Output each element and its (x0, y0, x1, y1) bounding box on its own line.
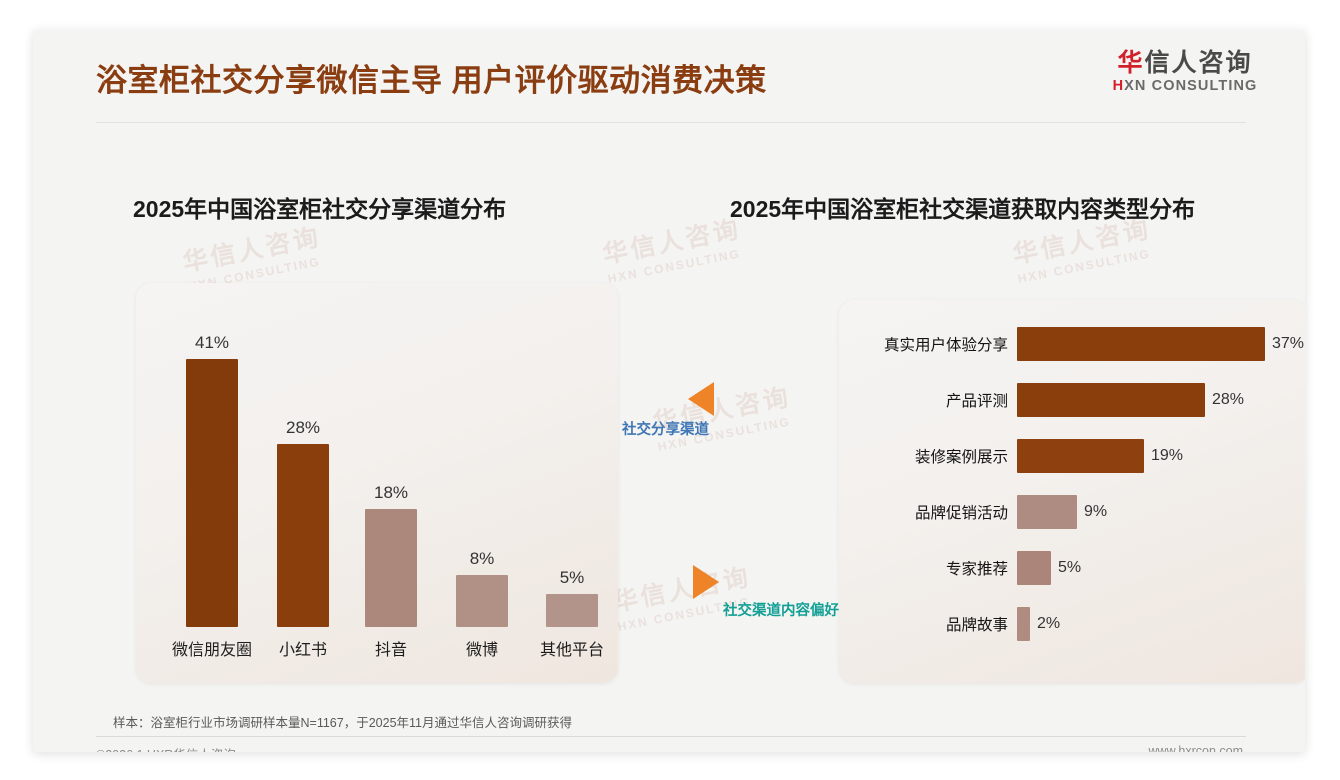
bar-category-label: 品牌故事 (839, 613, 1017, 635)
logo-chinese-name: 华信人咨询 (1095, 50, 1275, 76)
slide-header: 浴室柜社交分享微信主导 用户评价驱动消费决策 华信人咨询 HXN CONSULT… (33, 30, 1305, 124)
footer-divider (96, 736, 1246, 737)
horizontal-bar-row: 专家推荐5% (839, 551, 1305, 585)
bar-value-label: 28% (286, 418, 320, 438)
bar-rect (1017, 551, 1051, 585)
bar-rect (456, 575, 508, 627)
header-divider (96, 122, 1246, 123)
bar-value-label: 5% (560, 568, 585, 588)
bar-category-label: 真实用户体验分享 (839, 333, 1017, 355)
logo-english-first-char: H (1113, 78, 1125, 94)
horizontal-bar-row: 产品评测28% (839, 383, 1305, 417)
triangle-left-icon (688, 382, 714, 416)
logo-chinese-rest: 信人咨询 (1145, 49, 1253, 77)
watermark: 华信人咨询 HXN CONSULTING (599, 209, 746, 286)
bar-value-label: 8% (470, 549, 495, 569)
horizontal-bar-row: 真实用户体验分享37% (839, 327, 1305, 361)
vertical-bar-group: 18%抖音 (365, 509, 417, 627)
bar-category-label: 微博 (466, 636, 498, 660)
watermark-line1: 华信人咨询 (179, 217, 323, 279)
vertical-bar-group: 5%其他平台 (546, 594, 598, 627)
horizontal-bar-row: 装修案例展示19% (839, 439, 1305, 473)
vertical-bar-group: 28%小红书 (277, 444, 329, 627)
bar-value-label: 41% (195, 333, 229, 353)
horizontal-bar-chart: 真实用户体验分享37%产品评测28%装修案例展示19%品牌促销活动9%专家推荐5… (839, 300, 1305, 683)
bar-category-label: 装修案例展示 (839, 445, 1017, 467)
logo-chinese-first-char: 华 (1117, 49, 1144, 77)
horizontal-bar-row: 品牌故事2% (839, 607, 1305, 641)
vertical-bar-chart: 41%微信朋友圈28%小红书18%抖音8%微博5%其他平台 (136, 283, 618, 683)
bar-rect (277, 444, 329, 627)
watermark-line2: HXN CONSULTING (1016, 245, 1156, 285)
bar-rect (1017, 327, 1265, 361)
horizontal-bar-row: 品牌促销活动9% (839, 495, 1305, 529)
content-pref-label: 社交渠道内容偏好 (723, 599, 839, 620)
vertical-bar-group: 41%微信朋友圈 (186, 359, 238, 627)
bar-rect (1017, 607, 1030, 641)
watermark-line1: 华信人咨询 (599, 209, 743, 271)
bar-value-label: 37% (1272, 335, 1304, 353)
bar-category-label: 微信朋友圈 (172, 636, 252, 660)
bar-rect (546, 594, 598, 627)
watermark-line2: HXN CONSULTING (606, 245, 746, 285)
left-chart-panel: 41%微信朋友圈28%小红书18%抖音8%微博5%其他平台 (136, 283, 618, 683)
bar-value-label: 9% (1084, 503, 1107, 521)
sample-footnote: 样本：浴室柜行业市场调研样本量N=1167，于2025年11月通过华信人咨询调研… (113, 712, 572, 731)
bar-value-label: 5% (1058, 559, 1081, 577)
logo-english-name: HXN CONSULTING (1095, 78, 1275, 94)
bar-category-label: 产品评测 (839, 389, 1017, 411)
bar-value-label: 18% (374, 483, 408, 503)
bar-category-label: 小红书 (279, 636, 327, 660)
watermark: 华信人咨询 HXN CONSULTING (649, 377, 796, 454)
left-chart-title: 2025年中国浴室柜社交分享渠道分布 (133, 190, 506, 224)
copyright-text: ©2026.1 HXR华信人咨询 (96, 744, 236, 752)
vertical-bar-group: 8%微博 (456, 575, 508, 627)
bar-rect (1017, 495, 1077, 529)
logo-english-rest: XN CONSULTING (1124, 78, 1257, 94)
bar-rect (186, 359, 238, 627)
bar-category-label: 其他平台 (540, 636, 604, 660)
website-text: www.hxrcon.com (1149, 744, 1243, 752)
right-chart-title: 2025年中国浴室柜社交渠道获取内容类型分布 (730, 190, 1195, 224)
bar-category-label: 专家推荐 (839, 557, 1017, 579)
triangle-right-icon (693, 565, 719, 599)
page-title: 浴室柜社交分享微信主导 用户评价驱动消费决策 (96, 55, 767, 100)
brand-logo: 华信人咨询 HXN CONSULTING (1095, 50, 1275, 94)
bar-value-label: 19% (1151, 447, 1183, 465)
bar-rect (1017, 439, 1144, 473)
right-chart-panel: 真实用户体验分享37%产品评测28%装修案例展示19%品牌促销活动9%专家推荐5… (839, 300, 1305, 683)
bar-value-label: 2% (1037, 615, 1060, 633)
bar-value-label: 28% (1212, 391, 1244, 409)
bar-rect (365, 509, 417, 627)
slide-card: 浴室柜社交分享微信主导 用户评价驱动消费决策 华信人咨询 HXN CONSULT… (33, 30, 1305, 752)
bar-category-label: 品牌促销活动 (839, 501, 1017, 523)
bar-rect (1017, 383, 1205, 417)
share-channel-label: 社交分享渠道 (622, 418, 709, 439)
watermark: 华信人咨询 HXN CONSULTING (609, 557, 756, 634)
bar-category-label: 抖音 (375, 636, 407, 660)
